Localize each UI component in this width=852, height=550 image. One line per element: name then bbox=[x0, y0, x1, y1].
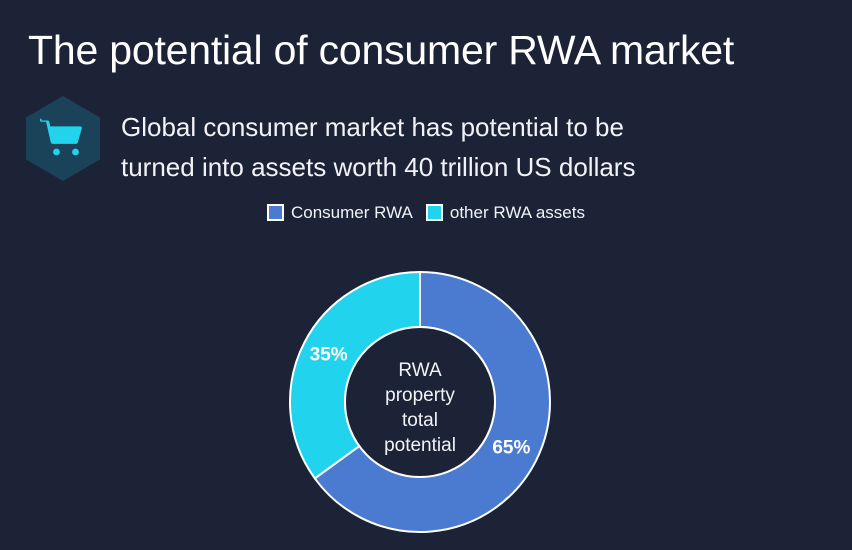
legend-label-other-rwa-assets: other RWA assets bbox=[450, 203, 585, 222]
subtitle-line-2: turned into assets worth 40 trillion US … bbox=[121, 147, 821, 187]
subtitle-line-1: Global consumer market has potential to … bbox=[121, 107, 821, 147]
legend-item-consumer-rwa[interactable]: Consumer RWA bbox=[267, 203, 413, 222]
legend-swatch-other-rwa-assets bbox=[426, 204, 443, 221]
donut-hole bbox=[345, 327, 495, 477]
donut-slices bbox=[290, 272, 550, 532]
hexagon-badge bbox=[24, 95, 102, 182]
data-label-other-rwa-assets: 35% bbox=[310, 344, 348, 365]
data-label-consumer-rwa: 65% bbox=[492, 438, 530, 459]
page-title: The potential of consumer RWA market bbox=[28, 22, 734, 78]
chart-legend: Consumer RWA other RWA assets bbox=[0, 203, 852, 222]
subtitle: Global consumer market has potential to … bbox=[121, 107, 821, 187]
donut-chart: 65% 35% bbox=[284, 266, 556, 538]
legend-swatch-consumer-rwa bbox=[267, 204, 284, 221]
legend-item-other-rwa-assets[interactable]: other RWA assets bbox=[426, 203, 585, 222]
slide-canvas: The potential of consumer RWA market Glo… bbox=[0, 0, 852, 550]
legend-label-consumer-rwa: Consumer RWA bbox=[291, 203, 413, 222]
